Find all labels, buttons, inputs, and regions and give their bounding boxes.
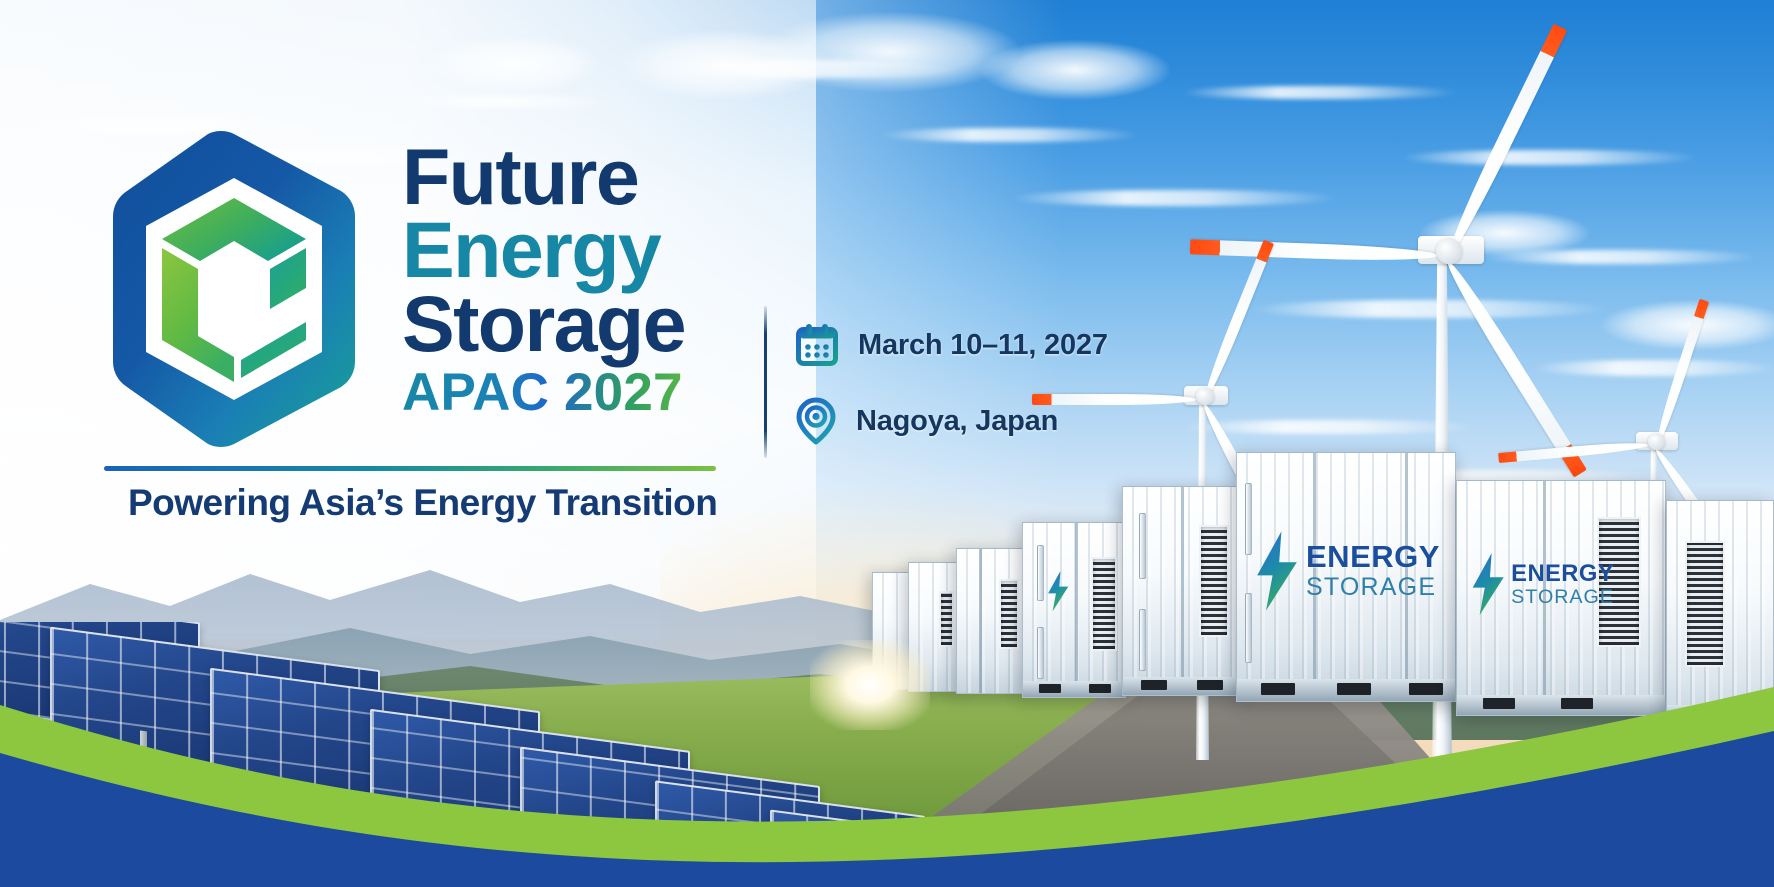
gradient-divider — [104, 466, 716, 471]
wordmark-line-storage: Storage — [402, 287, 685, 360]
event-date-row: March 10–11, 2027 — [796, 316, 1108, 374]
event-info-block: March 10–11, 2027 Nagoya, Japan — [796, 316, 1108, 450]
wordmark-line-future: Future — [402, 140, 685, 213]
event-tagline: Powering Asia’s Energy Transition — [128, 482, 717, 524]
banner-content: Future Energy Storage APAC 2027 — [0, 0, 1774, 887]
event-banner: ENERGY STORAGE ENERGY STORAGE — [0, 0, 1774, 887]
event-location-text: Nagoya, Japan — [856, 405, 1058, 438]
hexagon-cube-logo — [98, 128, 370, 450]
location-pin-icon — [796, 397, 836, 445]
vertical-divider — [764, 306, 767, 458]
calendar-icon — [796, 323, 838, 367]
wordmark-line-energy: Energy — [402, 213, 685, 286]
event-wordmark: Future Energy Storage APAC 2027 — [402, 140, 685, 418]
event-location-row: Nagoya, Japan — [796, 392, 1108, 450]
event-date-text: March 10–11, 2027 — [858, 329, 1108, 362]
wordmark-edition: APAC 2027 — [402, 368, 685, 417]
